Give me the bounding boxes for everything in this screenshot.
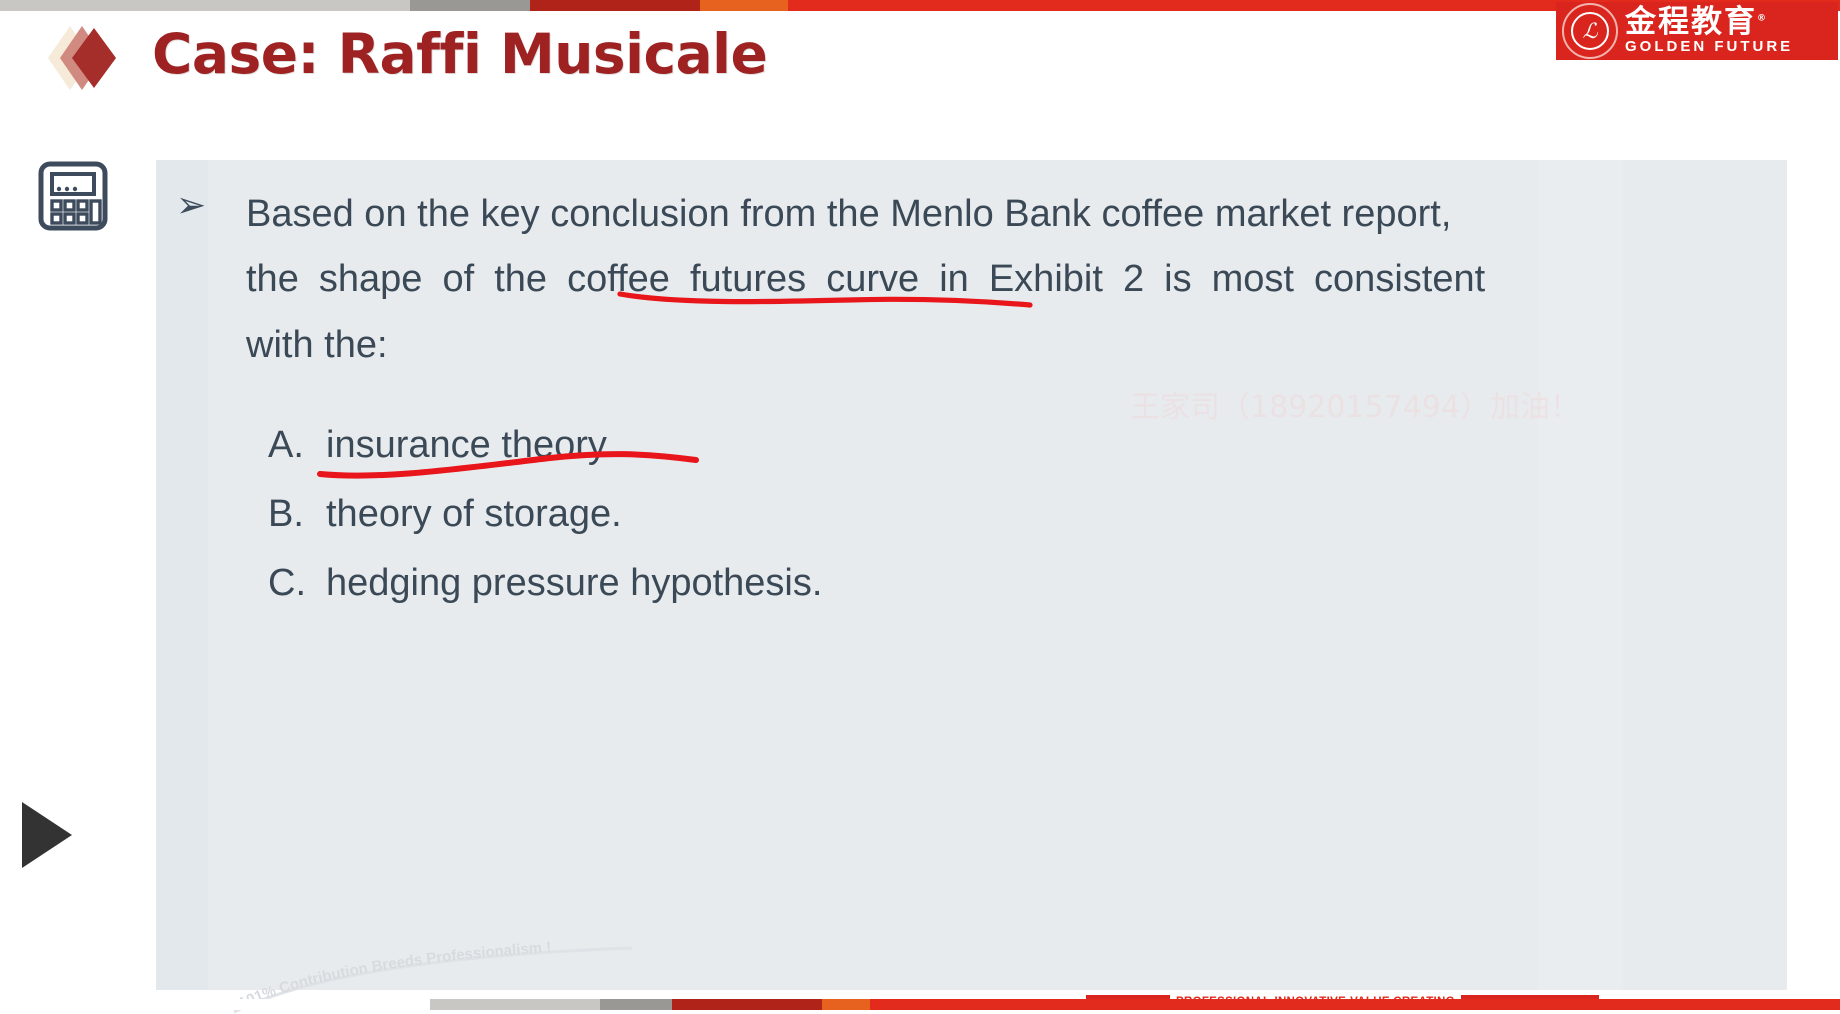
question-line-3: with the: — [246, 313, 1776, 378]
bullet-arrow-icon: ➢ — [176, 188, 206, 224]
diamond-logo-icon — [30, 22, 130, 94]
color-segment-mid-gray — [600, 999, 672, 1010]
option-a-letter: A. — [268, 424, 326, 467]
option-a[interactable]: A. insurance theory. — [268, 424, 822, 467]
color-segment-white-left — [0, 999, 430, 1010]
page-title: Case: Raffi Musicale — [152, 22, 767, 86]
option-b-letter: B. — [268, 493, 326, 536]
color-segment-bright-red — [870, 999, 1840, 1010]
logo-text-group: 金程教育® GOLDEN FUTURE — [1625, 7, 1793, 55]
question-line-2: the shape of the coffee futures curve in… — [246, 247, 1776, 312]
option-b[interactable]: B. theory of storage. — [268, 493, 822, 536]
seal-monogram: ℒ — [1571, 12, 1609, 50]
color-segment-dark-red — [530, 0, 700, 11]
question-text: Based on the key conclusion from the Men… — [246, 182, 1776, 378]
panel-left-tint — [156, 160, 208, 990]
seal-emblem-icon: ℒ — [1562, 3, 1618, 59]
color-segment-mid-gray — [410, 0, 530, 11]
option-c[interactable]: C. hedging pressure hypothesis. — [268, 562, 822, 605]
color-segment-light-gray — [0, 0, 410, 11]
option-b-label: theory of storage. — [326, 493, 622, 536]
answer-options: A. insurance theory. B. theory of storag… — [268, 424, 822, 631]
color-segment-dark-red — [672, 999, 822, 1010]
calculator-icon — [36, 160, 110, 232]
logo-trademark: ® — [1757, 13, 1768, 23]
brand-logo: ℒ 金程教育® GOLDEN FUTURE — [1556, 2, 1838, 60]
logo-chinese-name: 金程教育® — [1625, 7, 1793, 39]
faint-watermark: 王家司（18920157494）加油！ — [1130, 382, 1830, 422]
logo-english-name: GOLDEN FUTURE — [1625, 39, 1793, 55]
play-triangle-icon[interactable] — [22, 802, 72, 868]
title-blank-area — [1200, 15, 1470, 100]
color-segment-orange — [700, 0, 788, 11]
color-segment-orange — [822, 999, 870, 1010]
color-segment-light-gray — [430, 999, 600, 1010]
logo-notch-spacer — [1723, 62, 1838, 72]
question-line-1: Based on the key conclusion from the Men… — [246, 182, 1776, 247]
bottom-color-bar — [0, 999, 1840, 1010]
option-c-letter: C. — [268, 562, 326, 605]
option-a-label: insurance theory. — [326, 424, 615, 467]
option-c-label: hedging pressure hypothesis. — [326, 562, 822, 605]
